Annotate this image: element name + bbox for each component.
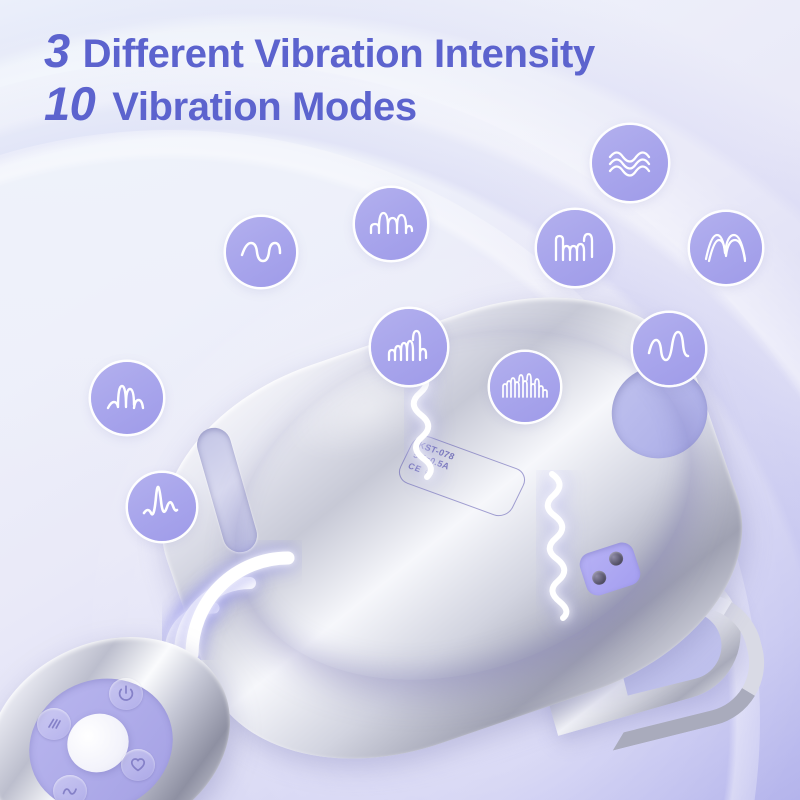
mode-sine-wave[interactable] [633,313,705,385]
pulse-peaks-icon [368,207,414,241]
triple-wave-icon [606,146,654,180]
remote-mode-button[interactable] [53,775,87,800]
burst-wave-icon [105,381,149,415]
headline: 3 Different Vibration Intensity 10 Vibra… [44,26,595,130]
wave-icon [60,781,80,800]
heartbeat-wave-icon [141,491,183,523]
square-pulse-icon [552,230,598,266]
remote-control [0,632,252,800]
mode-square-pulse[interactable] [537,210,613,286]
spike-ramp-icon [386,328,432,366]
heart-icon [128,755,148,775]
headline-line-2: 10 Vibration Modes [44,79,595,130]
mode-pulse-peaks[interactable] [355,188,427,260]
mode-double-peak[interactable] [690,212,762,284]
charging-pin-1 [590,569,608,587]
mode-triple-wave[interactable] [592,125,668,201]
intensity-count: 3 [44,26,70,77]
mode-dense-buzz[interactable] [490,352,560,422]
charging-pin-2 [607,550,625,568]
mode-spike-ramp[interactable] [371,309,447,385]
dense-buzz-icon [501,373,549,401]
levels-icon [44,714,64,734]
double-peak-icon [703,231,749,265]
smooth-wave-icon [239,239,283,265]
intensity-label: Different Vibration Intensity [83,32,595,77]
product-banner: 3 Different Vibration Intensity 10 Vibra… [0,0,800,800]
remote-power-button[interactable] [109,678,143,710]
remote-favorite-button[interactable] [121,749,155,781]
mode-burst-wave[interactable] [91,362,163,434]
power-icon [116,684,136,704]
headline-line-1: 3 Different Vibration Intensity [44,26,595,77]
modes-label: Vibration Modes [112,85,416,130]
mode-smooth-wave[interactable] [226,217,296,287]
sine-wave-icon [646,335,692,363]
mode-heartbeat-wave[interactable] [128,473,196,541]
remote-intensity-button[interactable] [37,708,71,740]
modes-count: 10 [44,79,95,130]
